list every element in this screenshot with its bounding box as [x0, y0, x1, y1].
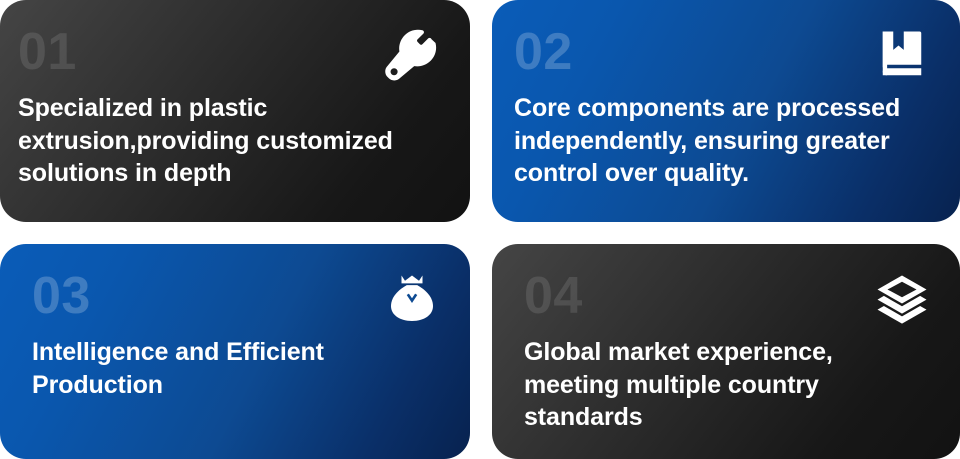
- feature-card-04[interactable]: 04 Global market experience, meeting mul…: [492, 244, 960, 459]
- book-bookmark-icon: [874, 28, 930, 84]
- wrench-icon: [384, 28, 440, 84]
- feature-card-02[interactable]: 02 Core components are processed indepen…: [492, 0, 960, 222]
- card-title-01: Specialized in plastic extrusion,providi…: [18, 92, 440, 190]
- card-content-04: 04 Global market experience, meeting mul…: [524, 270, 930, 433]
- feature-cards-board: 01 Specialized in plastic extrusion,prov…: [0, 0, 960, 459]
- card-content-02: 02 Core components are processed indepen…: [514, 26, 930, 196]
- card-title-04: Global market experience, meeting multip…: [524, 336, 930, 434]
- layers-stack-icon: [874, 272, 930, 328]
- card-title-02: Core components are processed independen…: [514, 92, 930, 190]
- card-title-03: Intelligence and Efficient Production: [32, 336, 440, 401]
- feature-card-03[interactable]: 03 Intelligence and Efficient Production: [0, 244, 470, 459]
- card-content-01: 01 Specialized in plastic extrusion,prov…: [18, 26, 440, 196]
- card-number-02: 02: [514, 26, 930, 78]
- card-number-01: 01: [18, 26, 440, 78]
- card-number-04: 04: [524, 270, 930, 322]
- feature-card-01[interactable]: 01 Specialized in plastic extrusion,prov…: [0, 0, 470, 222]
- money-bag-yen-icon: [384, 272, 440, 328]
- card-number-03: 03: [32, 270, 440, 322]
- card-content-03: 03 Intelligence and Efficient Production: [32, 270, 440, 433]
